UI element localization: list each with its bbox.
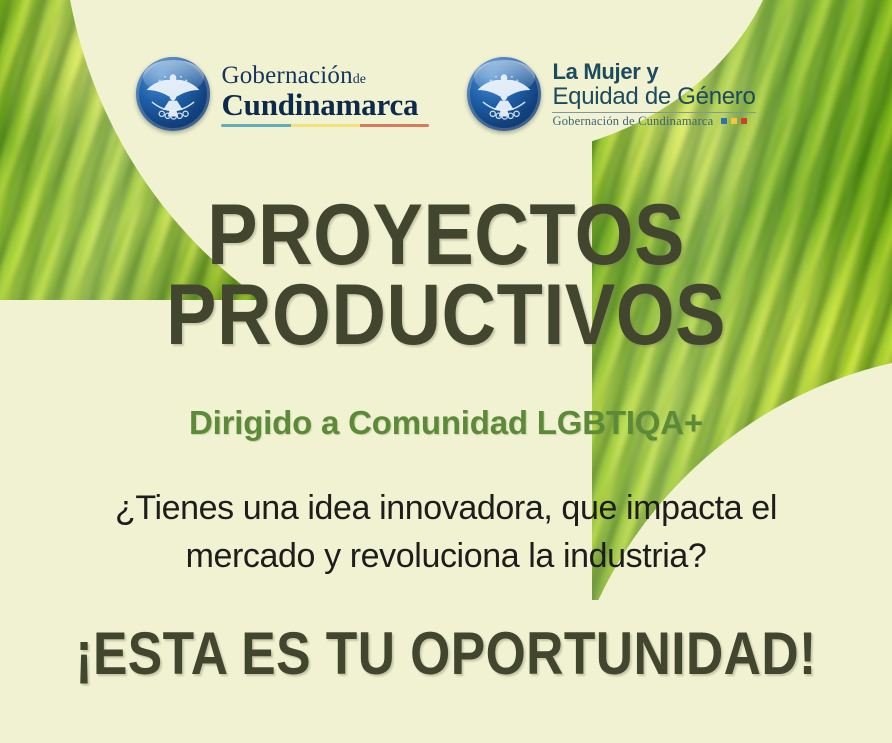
question-text: ¿Tienes una idea innovadora, que impacta… bbox=[60, 484, 832, 581]
mujer-line3: Gobernación de Cundinamarca bbox=[552, 115, 713, 128]
logo-gobernacion-cundinamarca: Gobernaciónde Cundinamarca bbox=[136, 57, 429, 131]
logo-mujer-equidad-genero: La Mujer y Equidad de Género Gobernación… bbox=[467, 57, 755, 131]
mujer-equidad-wordmark: La Mujer y Equidad de Género Gobernación… bbox=[552, 60, 755, 128]
question-line-2: mercado y revoluciona la industria? bbox=[60, 532, 832, 580]
mujer-line1: La Mujer y bbox=[552, 61, 755, 83]
color-dots bbox=[721, 118, 747, 124]
headline-line-2: PRODUCTIVOS bbox=[54, 276, 839, 356]
headline: PROYECTOS PRODUCTIVOS bbox=[54, 196, 839, 356]
poster: Gobernaciónde Cundinamarca bbox=[0, 0, 892, 743]
logo-row: Gobernaciónde Cundinamarca bbox=[0, 46, 892, 142]
call-to-action: ¡ESTA ES TU OPORTUNIDAD! bbox=[62, 624, 829, 684]
gobernacion-line1-small: de bbox=[353, 72, 366, 87]
cundinamarca-coat-of-arms-icon bbox=[136, 57, 210, 131]
subtitle: Dirigido a Comunidad LGBTIQA+ bbox=[0, 404, 892, 442]
gobernacion-wordmark: Gobernaciónde Cundinamarca bbox=[221, 61, 429, 127]
mujer-line2: Equidad de Género bbox=[552, 85, 755, 109]
tricolor-rule bbox=[221, 124, 429, 127]
gobernacion-line1: Gobernación bbox=[221, 62, 352, 89]
cundinamarca-line: Cundinamarca bbox=[221, 89, 429, 120]
question-line-1: ¿Tienes una idea innovadora, que impacta… bbox=[60, 484, 832, 532]
divider bbox=[552, 112, 755, 113]
headline-line-1: PROYECTOS bbox=[54, 196, 839, 276]
cundinamarca-coat-of-arms-icon bbox=[467, 57, 541, 131]
